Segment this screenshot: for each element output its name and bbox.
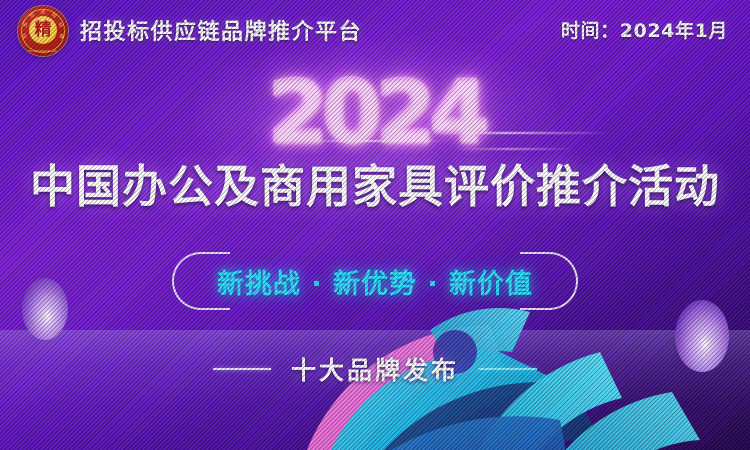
slogan-text: 新挑战 · 新优势 · 新价值 — [172, 252, 578, 310]
dash-left — [213, 368, 271, 370]
header-bar: 精 www.zhaobiao-pin.cn 招投标采购品牌 招投标供应链品牌推介… — [0, 0, 750, 62]
bottom-text: 十大品牌发布 — [291, 351, 459, 387]
year-text: 2024 — [267, 69, 482, 155]
slogan-box: 新挑战 · 新优势 · 新价值 — [172, 252, 578, 310]
dash-right — [479, 368, 537, 370]
seal-logo-icon: 精 www.zhaobiao-pin.cn 招投标采购品牌 — [18, 6, 68, 56]
light-streak-1 — [300, 140, 450, 142]
page-title: 中国办公及商用家具评价推介活动 — [0, 150, 750, 215]
promotional-banner: 精 www.zhaobiao-pin.cn 招投标采购品牌 招投标供应链品牌推介… — [0, 0, 750, 450]
event-time: 时间：2024年1月 — [561, 16, 728, 43]
seal-ring-text: 招投标采购品牌 — [18, 6, 68, 56]
year-decoration: 2024 — [0, 66, 750, 158]
platform-name: 招投标供应链品牌推介平台 — [80, 14, 362, 46]
light-streak-2 — [420, 132, 610, 134]
bottom-line: 十大品牌发布 — [0, 352, 750, 386]
